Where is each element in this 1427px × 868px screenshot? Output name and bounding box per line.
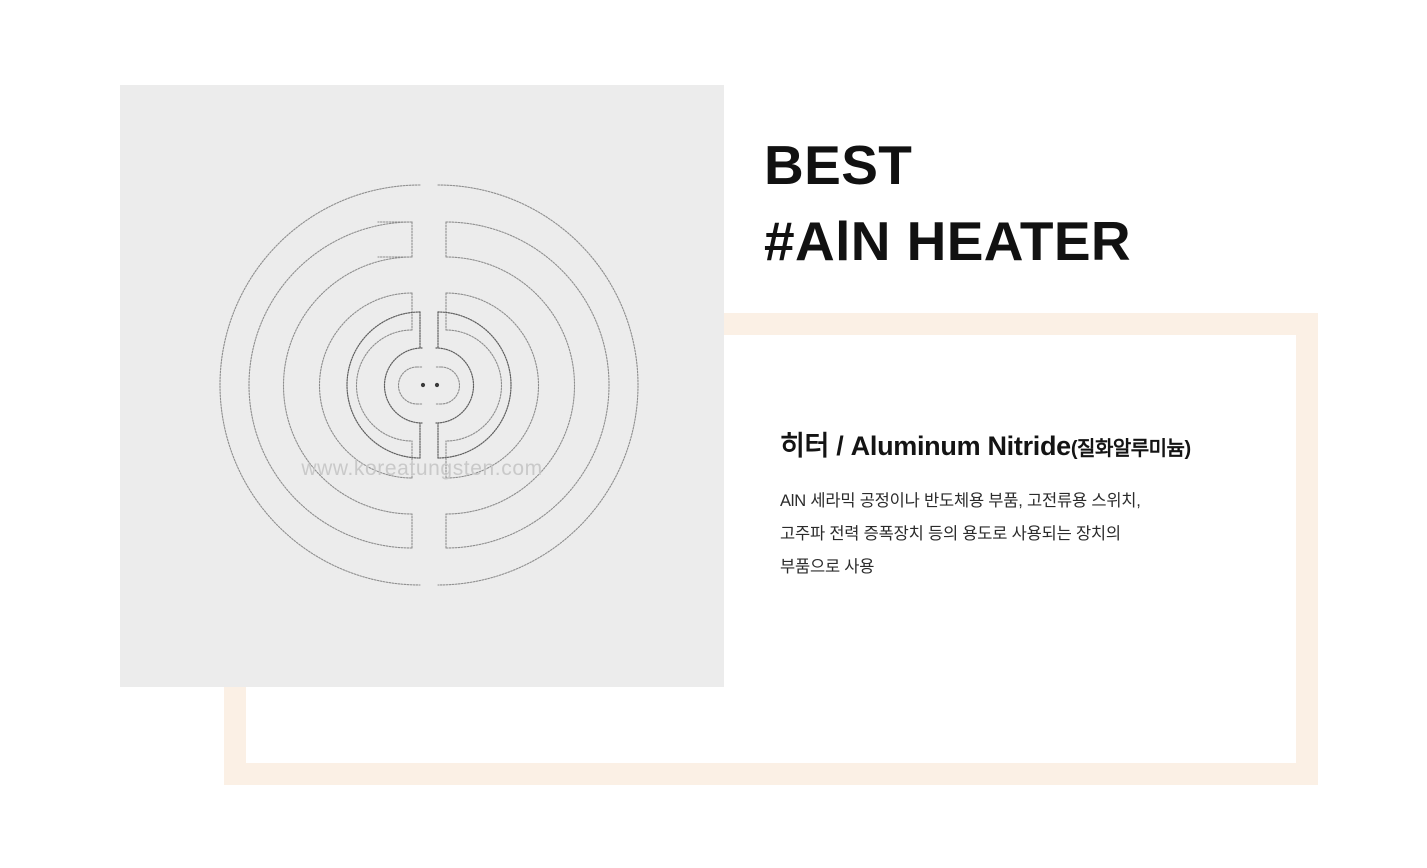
product-image-panel: www.koreatungsten.com — [120, 85, 724, 687]
product-description-line-2: 고주파 전력 증폭장치 등의 용도로 사용되는 장치의 — [780, 518, 1300, 551]
product-title-parenthetical: (질화알루미늄) — [1071, 438, 1191, 460]
page-title-line-1: BEST — [764, 128, 1131, 204]
aln-heater-coil-graphic — [120, 85, 724, 687]
product-title-main: 히터 / Aluminum Nitride — [780, 431, 1071, 461]
terminal-dot-left — [421, 383, 425, 387]
product-description: AlN 세라믹 공정이나 반도체용 부품, 고전류용 스위치, 고주파 전력 증… — [780, 485, 1300, 584]
product-description-line-3: 부품으로 사용 — [780, 551, 1300, 584]
page-title: BEST #AlN HEATER — [764, 128, 1131, 280]
terminal-dot-right — [435, 383, 439, 387]
slide-canvas: www.koreatungsten.com BEST #AlN HEATER 히… — [0, 0, 1427, 868]
product-description-line-1: AlN 세라믹 공정이나 반도체용 부품, 고전류용 스위치, — [780, 485, 1300, 518]
page-title-line-2: #AlN HEATER — [764, 204, 1131, 280]
product-title: 히터 / Aluminum Nitride(질화알루미늄) — [780, 424, 1300, 463]
product-detail-block: 히터 / Aluminum Nitride(질화알루미늄) AlN 세라믹 공정… — [780, 424, 1300, 584]
